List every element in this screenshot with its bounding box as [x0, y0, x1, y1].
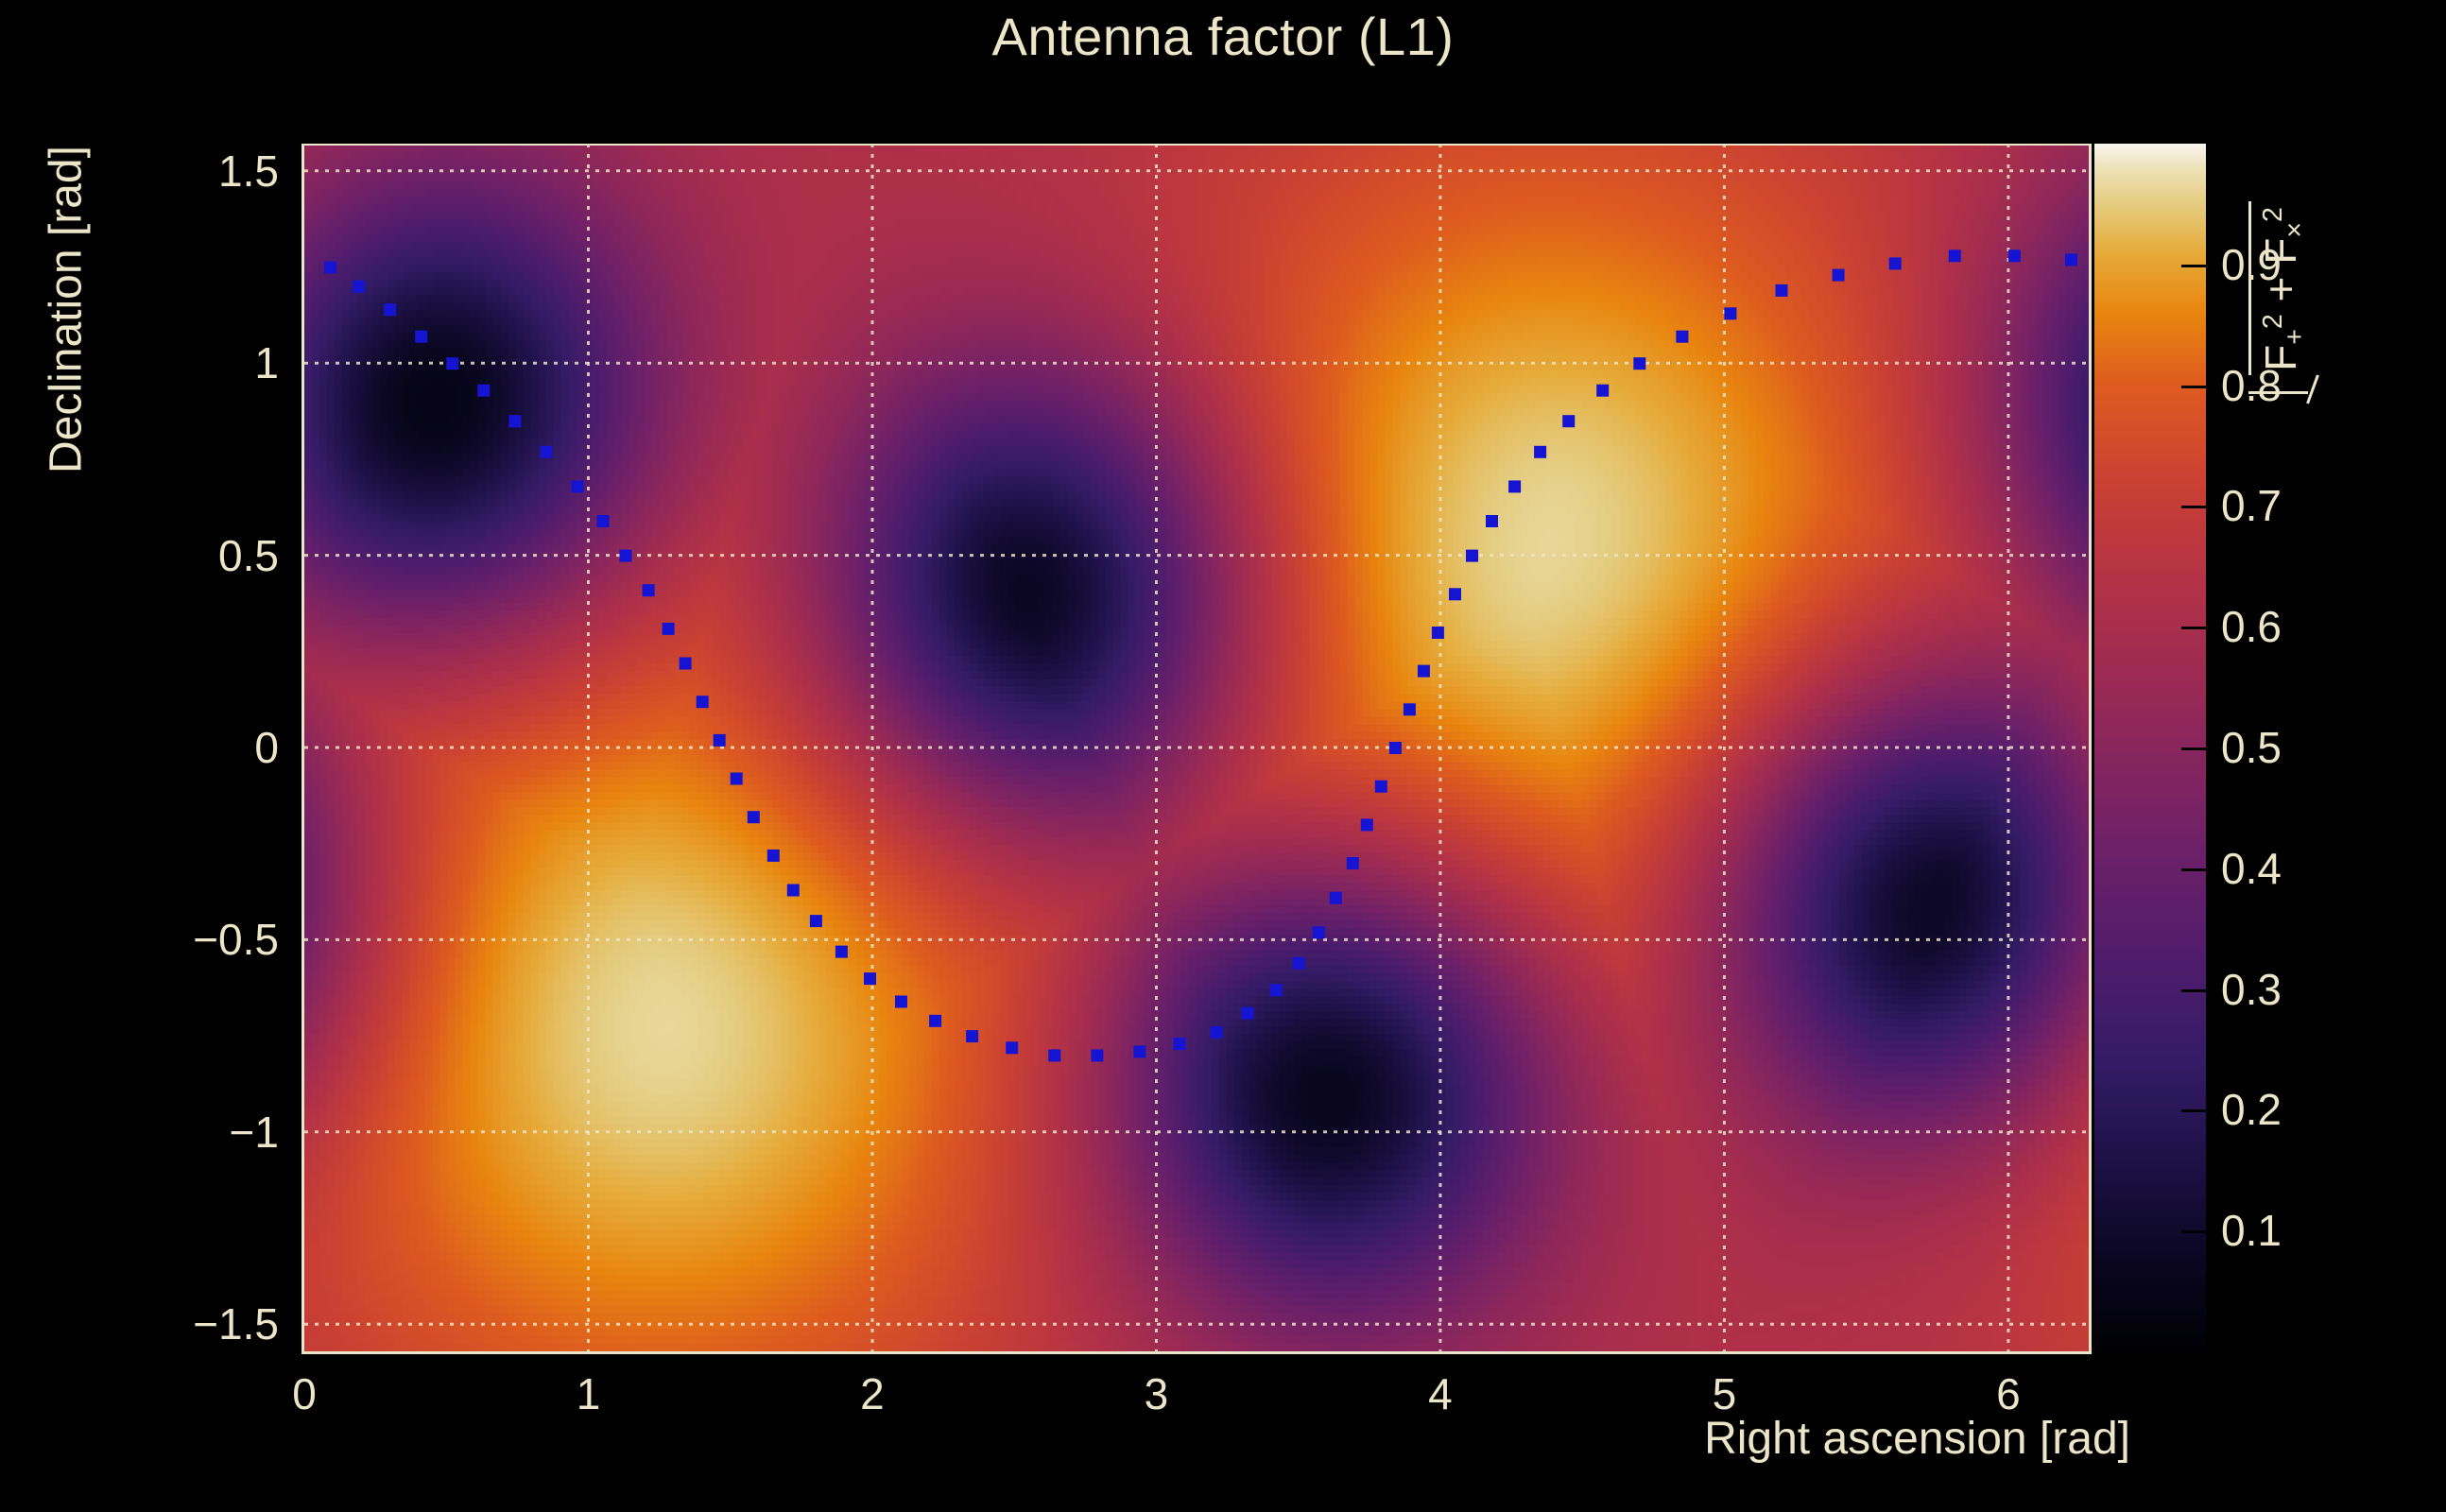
colorbar-tickmark: [2181, 627, 2206, 629]
x-tick-label: 5: [1713, 1368, 1737, 1419]
sqrt-radical: F+2 + F×2: [2248, 201, 2311, 375]
axis-frame-top: [301, 144, 2092, 146]
y-tick-label: −1: [104, 1107, 279, 1158]
colorbar-tickmark: [2181, 506, 2206, 508]
y-axis-title: Declination [rad]: [41, 26, 93, 593]
x-tick-label: 1: [577, 1368, 601, 1419]
x-tick-label: 3: [1145, 1368, 1169, 1419]
x-tick-label: 4: [1428, 1368, 1453, 1419]
colorbar-title: F+2 + F×2: [2223, 144, 2327, 1351]
colorbar-tickmark: [2181, 1230, 2206, 1233]
y-tick-label: −0.5: [104, 914, 279, 965]
heatmap-plot-area[interactable]: [304, 144, 2089, 1351]
galactic-plane-overlay: [304, 144, 2089, 1351]
colorbar-tickmark: [2181, 868, 2206, 871]
colorbar[interactable]: [2094, 144, 2206, 1351]
chart-root: Antenna factor (L1) 0123456 1.510.50−0.5…: [0, 0, 2446, 1512]
y-tick-label: 1.5: [104, 146, 279, 197]
y-tick-label: 0.5: [104, 530, 279, 581]
colorbar-tickmark: [2181, 747, 2206, 750]
y-tick-label: 0: [104, 722, 279, 773]
axis-frame-right: [2089, 144, 2092, 1354]
x-tick-label: 0: [292, 1368, 317, 1419]
y-tick-label: −1.5: [104, 1298, 279, 1349]
colorbar-tickmark: [2181, 265, 2206, 267]
x-axis-title: Right ascension [rad]: [1704, 1413, 2130, 1465]
x-tick-label: 6: [1996, 1368, 2021, 1419]
axis-frame-left: [301, 144, 304, 1354]
colorbar-tickmark: [2181, 386, 2206, 388]
y-tick-label: 1: [104, 337, 279, 388]
axis-frame-bottom: [301, 1351, 2092, 1354]
colorbar-tickmark: [2181, 1109, 2206, 1112]
colorbar-tickmark: [2181, 989, 2206, 992]
x-tick-label: 2: [860, 1368, 885, 1419]
page-title: Antenna factor (L1): [0, 6, 2446, 67]
colorbar-title-text: F+2 + F×2: [2248, 90, 2311, 487]
